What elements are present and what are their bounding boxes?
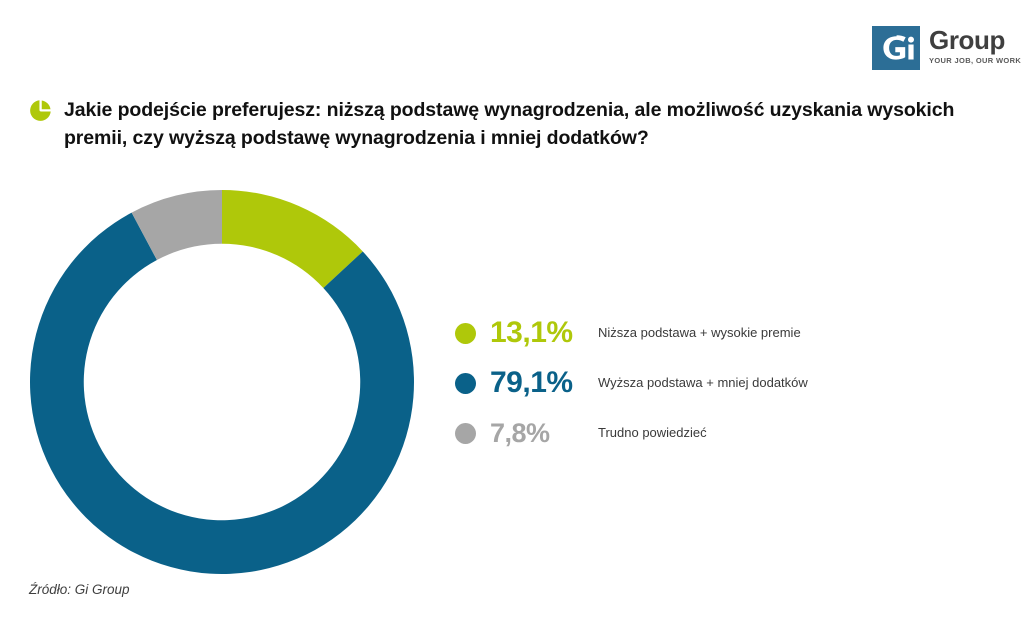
legend-label: Wyższa podstawa + mniej dodatków (598, 375, 808, 391)
legend-dot-green-icon (455, 323, 476, 344)
donut-segments (30, 190, 414, 574)
legend-percent: 7,8% (490, 418, 598, 448)
donut-segment[interactable] (30, 213, 414, 574)
legend-label: Niższa podstawa + wysokie premie (598, 325, 801, 341)
legend-percent: 13,1% (490, 318, 598, 348)
legend-dot-blue-icon (455, 373, 476, 394)
donut-chart (30, 190, 414, 574)
brand-logo: Group YOUR JOB, OUR WORK (872, 26, 1021, 70)
logo-wordmark: Group (929, 27, 1021, 53)
page-title: Jakie podejście preferujesz: niższą pods… (64, 96, 958, 152)
logo-text-block: Group YOUR JOB, OUR WORK (929, 26, 1021, 66)
legend-row[interactable]: 7,8% Trudno powiedzieć (455, 408, 875, 458)
legend-dot-gray-icon (455, 423, 476, 444)
legend-row[interactable]: 79,1% Wyższa podstawa + mniej dodatków (455, 358, 875, 408)
gi-group-logo-icon (872, 26, 920, 70)
legend-label: Trudno powiedzieć (598, 425, 707, 441)
legend-percent: 79,1% (490, 368, 598, 398)
pie-chart-icon (28, 98, 53, 123)
chart-legend: 13,1% Niższa podstawa + wysokie premie 7… (455, 308, 875, 458)
logo-tagline: YOUR JOB, OUR WORK (929, 55, 1021, 66)
chart-title-row: Jakie podejście preferujesz: niższą pods… (28, 96, 958, 152)
source-note: Źródło: Gi Group (29, 582, 130, 597)
legend-row[interactable]: 13,1% Niższa podstawa + wysokie premie (455, 308, 875, 358)
